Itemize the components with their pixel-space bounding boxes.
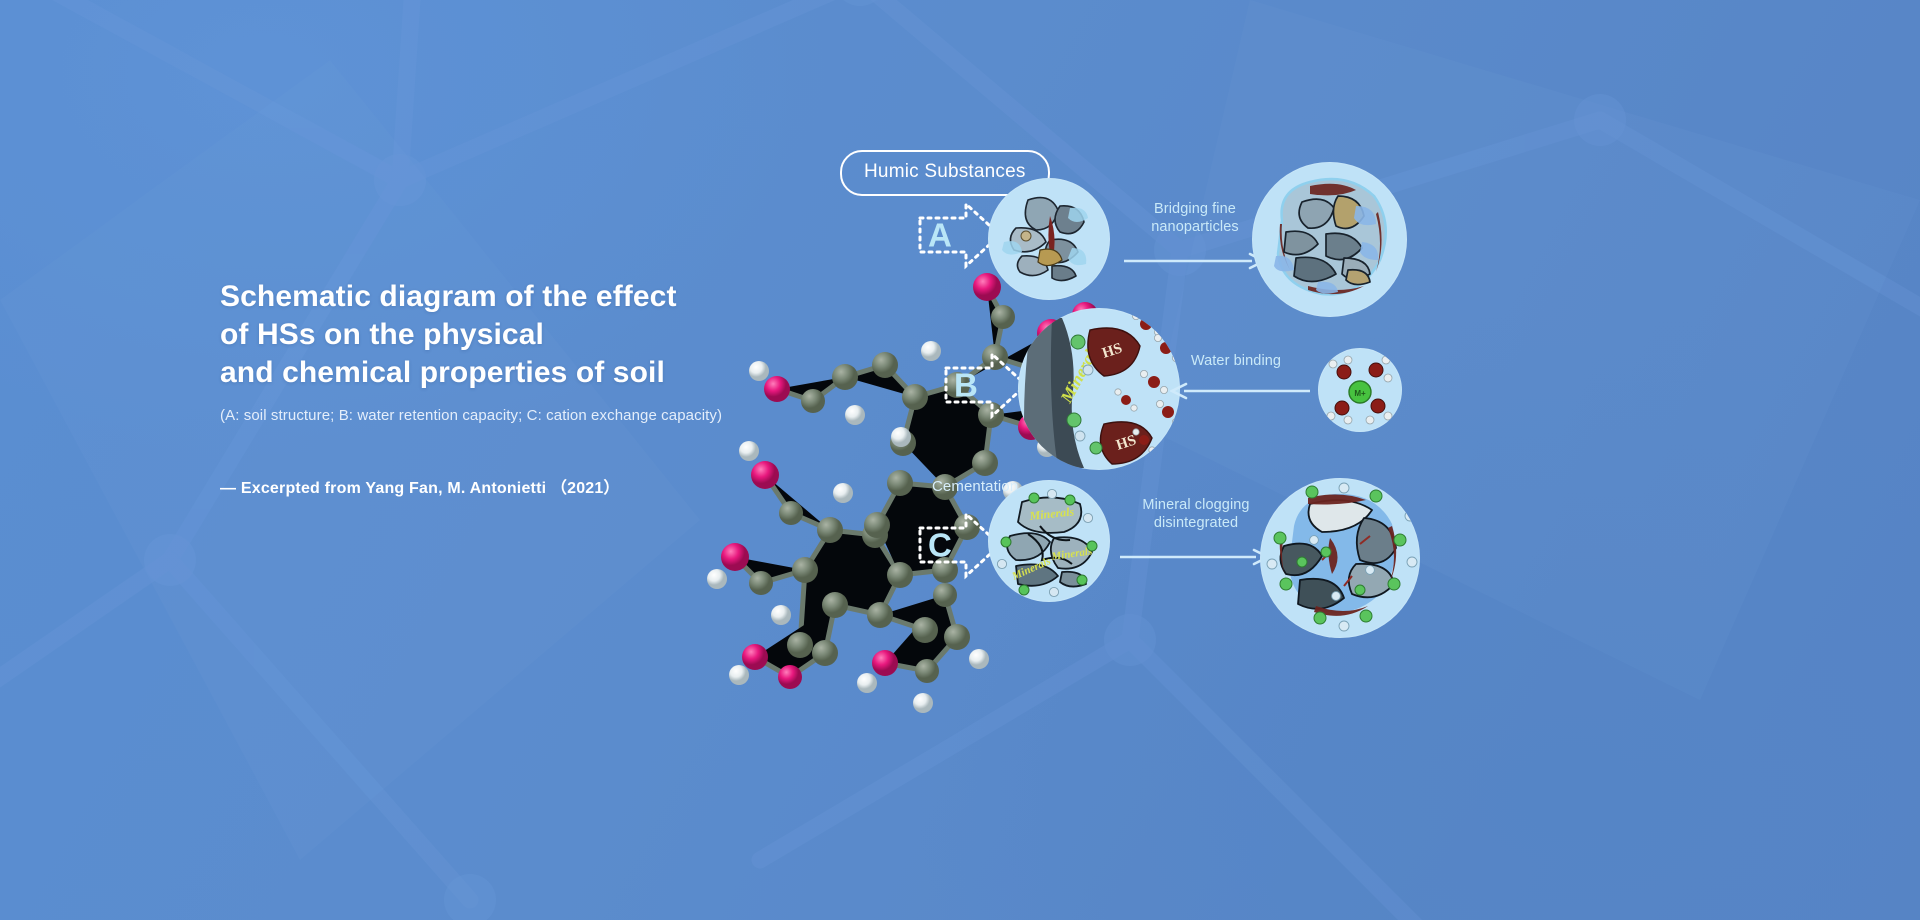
hydrated-cation: M+ <box>1349 381 1371 403</box>
circle-a-left <box>988 178 1110 300</box>
cementation-label: Cementation <box>932 478 1018 495</box>
circle-c-left: Minerals Minerals Minerals <box>988 480 1110 602</box>
svg-text:M+: M+ <box>1354 389 1366 398</box>
stage-letter-a: A <box>928 219 952 252</box>
stage-marker-b: B <box>942 348 1030 422</box>
circle-a-right <box>1252 162 1407 317</box>
stage-letter-b: B <box>954 369 978 402</box>
circle-b-left: Mineral HS HS <box>1018 308 1180 470</box>
flow-label-b: Water binding <box>1156 352 1316 370</box>
flow-arrow-a-right <box>1124 252 1266 270</box>
flow-arrow-c-right <box>1120 548 1270 566</box>
flow-label-c: Mineral clogging disintegrated <box>1106 496 1286 532</box>
diagram-area: Humic Substances <box>840 130 1850 790</box>
flow-arrow-b-left <box>1170 382 1310 400</box>
circle-c-right <box>1260 478 1420 638</box>
stage-letter-c: C <box>928 529 952 562</box>
circle-b-right: M+ <box>1318 348 1402 432</box>
